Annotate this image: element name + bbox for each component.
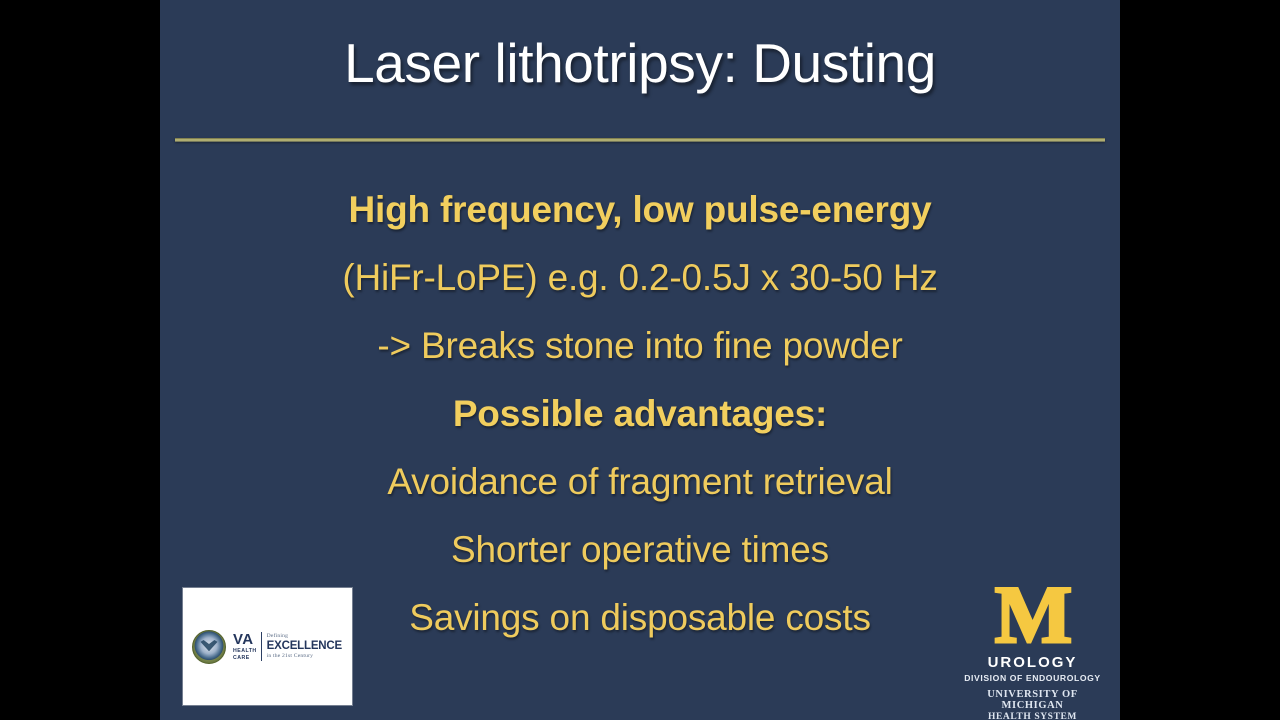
body-line-2: (HiFr-LoPE) e.g. 0.2-0.5J x 30-50 Hz — [160, 244, 1120, 312]
va-tagline-group: Defining EXCELLENCE in the 21st Century — [262, 632, 342, 660]
va-wordmark: VA HEALTH CARE Defining EXCELLENCE in th… — [233, 632, 342, 660]
va-initials-group: VA HEALTH CARE — [233, 632, 262, 660]
um-health-system: HEALTH SYSTEM — [955, 712, 1110, 720]
letterbox-left — [0, 0, 160, 720]
body-line-4: Possible advantages: — [160, 380, 1120, 448]
va-health-care-logo: VA HEALTH CARE Defining EXCELLENCE in th… — [183, 588, 352, 705]
va-tagline-bottom: in the 21st Century — [267, 654, 342, 660]
va-tagline-top: Defining — [267, 634, 342, 640]
um-division-name: DIVISION OF ENDOUROLOGY — [955, 673, 1110, 683]
um-department-name: UROLOGY — [955, 654, 1110, 671]
slide-viewport: Laser lithotripsy: Dusting High frequenc… — [0, 0, 1280, 720]
va-tagline-main: EXCELLENCE — [267, 641, 342, 653]
body-line-1: High frequency, low pulse-energy — [160, 176, 1120, 244]
va-seal-icon — [192, 630, 226, 664]
body-line-6: Shorter operative times — [160, 516, 1120, 584]
slide-title: Laser lithotripsy: Dusting — [160, 34, 1120, 92]
va-initials: VA — [233, 632, 253, 647]
body-line-5: Avoidance of fragment retrieval — [160, 448, 1120, 516]
presentation-slide: Laser lithotripsy: Dusting High frequenc… — [160, 0, 1120, 720]
michigan-urology-logo: M UROLOGY DIVISION OF ENDOUROLOGY UNIVER… — [955, 580, 1110, 720]
body-line-3: -> Breaks stone into fine powder — [160, 312, 1120, 380]
slide-title-block: Laser lithotripsy: Dusting — [160, 34, 1120, 92]
letterbox-right — [1120, 0, 1280, 720]
va-sub-care: CARE — [233, 656, 250, 661]
um-university-name: UNIVERSITY OF MICHIGAN — [955, 689, 1110, 711]
va-sub-health: HEALTH — [233, 649, 257, 654]
title-divider-rule — [175, 138, 1105, 142]
block-m-icon: M — [955, 580, 1110, 651]
